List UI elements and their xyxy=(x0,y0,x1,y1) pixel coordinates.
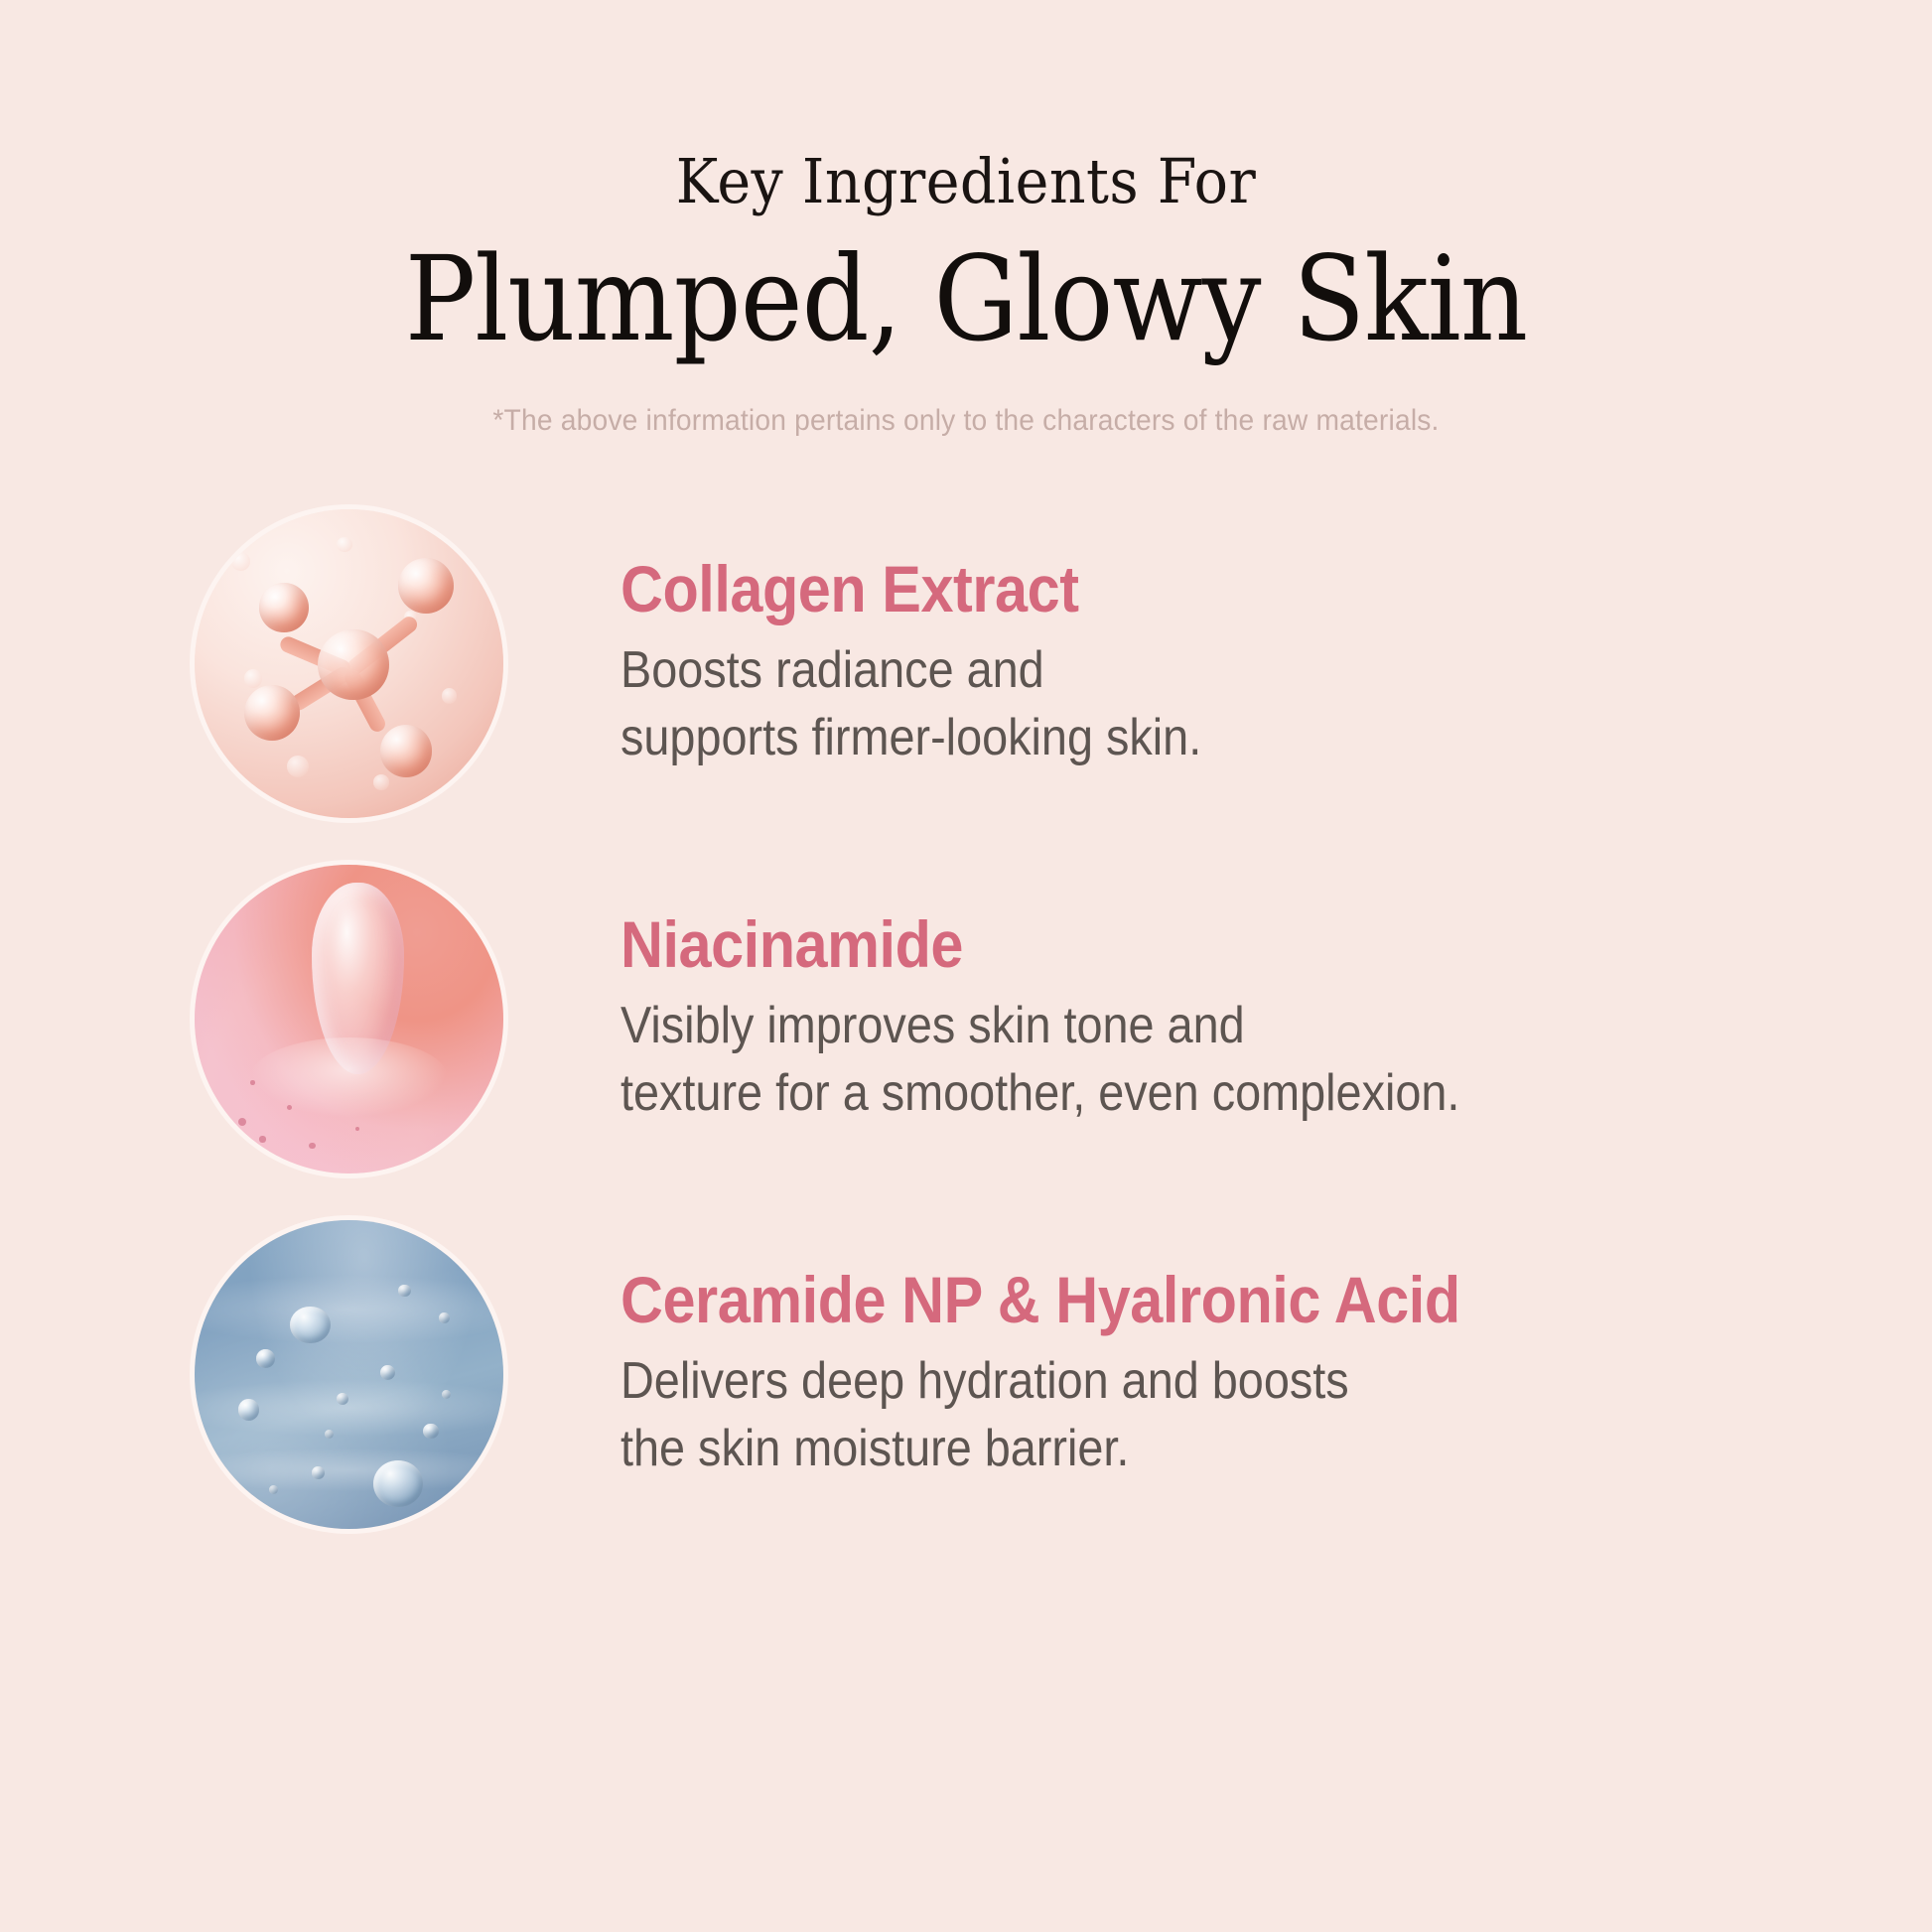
ingredient-text: Niacinamide Visibly improves skin tone a… xyxy=(503,910,1553,1128)
ingredient-title: Collagen Extract xyxy=(621,555,1201,624)
collagen-molecule-image xyxy=(195,509,503,818)
ingredient-description-line2: the skin moisture barrier. xyxy=(621,1416,1460,1483)
ingredient-infographic-page: Key Ingredients For Plumped, Glowy Skin … xyxy=(0,0,1932,1932)
disclaimer-text: *The above information pertains only to … xyxy=(58,404,1873,438)
ingredient-text: Ceramide NP & Hyalronic Acid Delivers de… xyxy=(503,1266,1554,1483)
ingredient-description-line2: texture for a smoother, even complexion. xyxy=(621,1060,1459,1128)
header-section: Key Ingredients For Plumped, Glowy Skin … xyxy=(0,0,1932,438)
ingredient-row: Niacinamide Visibly improves skin tone a… xyxy=(195,855,1833,1182)
ingredient-description-line1: Boosts radiance and xyxy=(621,637,1201,705)
eyebrow-heading: Key Ingredients For xyxy=(77,149,1855,215)
ingredient-row: Ceramide NP & Hyalronic Acid Delivers de… xyxy=(195,1210,1833,1538)
ingredient-list: Collagen Extract Boosts radiance and sup… xyxy=(0,499,1932,1538)
blue-hydration-gel-image xyxy=(195,1220,503,1529)
pink-serum-droplet-image xyxy=(195,865,503,1173)
ingredient-text: Collagen Extract Boosts radiance and sup… xyxy=(503,555,1266,772)
page-title: Plumped, Glowy Skin xyxy=(96,233,1835,364)
ingredient-description-line1: Delivers deep hydration and boosts xyxy=(621,1348,1460,1416)
ingredient-title: Niacinamide xyxy=(621,910,1459,980)
ingredient-description-line2: supports firmer-looking skin. xyxy=(621,705,1201,772)
ingredient-title: Ceramide NP & Hyalronic Acid xyxy=(621,1266,1460,1335)
ingredient-row: Collagen Extract Boosts radiance and sup… xyxy=(195,499,1833,827)
ingredient-description-line1: Visibly improves skin tone and xyxy=(621,993,1459,1060)
